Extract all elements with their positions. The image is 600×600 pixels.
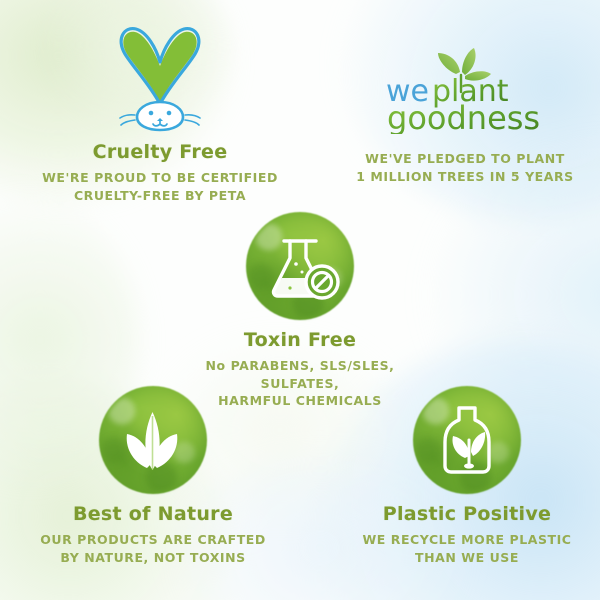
badge-subtitle: WE'VE PLEDGED TO PLANT 1 MILLION TREES I… xyxy=(340,150,590,186)
badge-title: Best of Nature xyxy=(28,504,278,525)
brand-values-infographic: Cruelty Free WE'RE PROUD TO BE CERTIFIED… xyxy=(0,0,600,600)
badge-cruelty-free: Cruelty Free WE'RE PROUD TO BE CERTIFIED… xyxy=(35,14,285,204)
badge-title: Toxin Free xyxy=(175,330,425,351)
badge-we-plant-goodness: we plant goodness WE'VE PLEDGED TO PLANT… xyxy=(340,48,590,186)
flask-no-toxins-icon xyxy=(246,212,354,320)
bottle-sprout-icon xyxy=(413,386,521,494)
badge-plastic-positive: Plastic Positive WE RECYCLE MORE PLASTIC… xyxy=(342,386,592,566)
badge-title: Cruelty Free xyxy=(35,142,285,163)
badge-toxin-free: Toxin Free No PARABENS, SLS/SLES, SULFAT… xyxy=(175,212,425,410)
we-plant-goodness-logo: we plant goodness xyxy=(372,48,558,134)
badge-subtitle: OUR PRODUCTS ARE CRAFTED BY NATURE, NOT … xyxy=(28,531,278,567)
badge-subtitle: WE'RE PROUD TO BE CERTIFIED CRUELTY-FREE… xyxy=(35,169,285,205)
peta-bunny-icon xyxy=(105,14,215,132)
badge-subtitle: WE RECYCLE MORE PLASTIC THAN WE USE xyxy=(342,531,592,567)
badge-best-of-nature: Best of Nature OUR PRODUCTS ARE CRAFTED … xyxy=(28,386,278,566)
badge-title: Plastic Positive xyxy=(342,504,592,525)
logo-word-goodness: goodness xyxy=(387,99,540,134)
leaves-icon xyxy=(99,386,207,494)
